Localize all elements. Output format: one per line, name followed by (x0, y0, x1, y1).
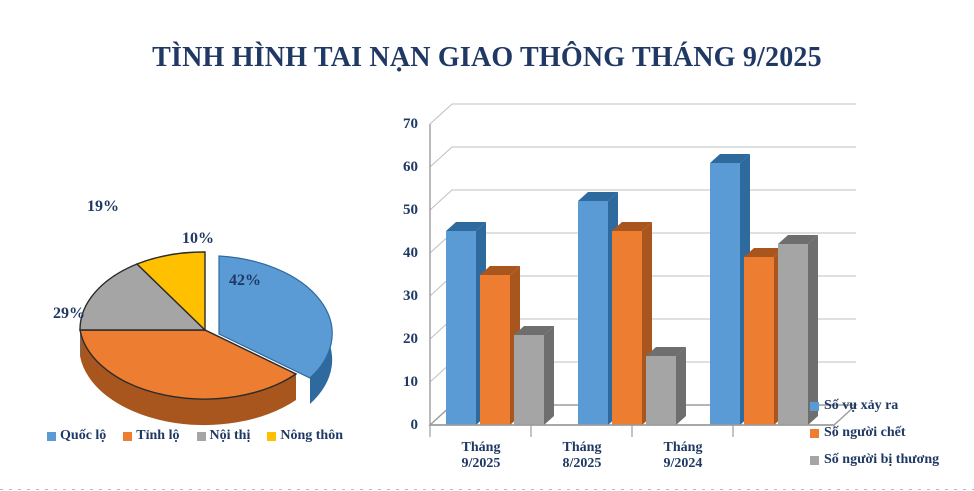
bar-so-nguoi-bi-thuong-3[interactable] (778, 244, 808, 425)
x-label-line1: Tháng (527, 440, 637, 456)
bar-group-thang-9-2025 (446, 222, 554, 425)
legend-swatch-icon (267, 432, 276, 441)
bar-legend-label: Số vụ xảy ra (824, 398, 898, 414)
bar-legend-label: Số người chết (824, 425, 906, 441)
infographic-canvas: TÌNH HÌNH TAI NẠN GIAO THÔNG THÁNG 9/202… (0, 0, 974, 491)
x-label-thang-9-2025: Tháng 9/2025 (426, 440, 536, 471)
bar-so-vu-xay-ra-2[interactable] (578, 201, 608, 425)
bar-legend-item-so-vu-xay-ra[interactable]: Số vụ xảy ra (810, 398, 939, 414)
pie-chart-svg (10, 150, 380, 430)
bar-side-3c (808, 235, 818, 425)
pie-legend-label: Nông thôn (280, 428, 343, 444)
pie-value-noi-thi: 19% (87, 198, 119, 216)
bar-group-thang-8-2025 (578, 192, 686, 425)
bottom-divider (0, 489, 974, 490)
legend-swatch-icon (197, 432, 206, 441)
x-label-line1: Tháng (426, 440, 536, 456)
x-label-line1: Tháng (628, 440, 738, 456)
x-label-thang-9-2024: Tháng 9/2024 (628, 440, 738, 471)
bar-so-nguoi-bi-thuong-1[interactable] (514, 335, 544, 425)
pie-legend-label: Tỉnh lộ (136, 428, 179, 444)
bar-so-nguoi-bi-thuong-2[interactable] (646, 356, 676, 425)
pie-legend-item-quoc-lo[interactable]: Quốc lộ (47, 428, 106, 444)
bar-chart-panel: 70 60 50 40 30 20 10 0 (378, 95, 974, 491)
bar-so-vu-xay-ra-1[interactable] (446, 231, 476, 425)
bar-legend-item-so-nguoi-chet[interactable]: Số người chết (810, 425, 939, 441)
pie-chart-panel: 42% 29% 19% 10% Quốc lộ Tỉnh lộ Nội thị … (10, 150, 380, 480)
pie-value-quoc-lo: 42% (229, 272, 261, 290)
x-label-line2: 8/2025 (527, 456, 637, 472)
bar-so-nguoi-chet-1[interactable] (480, 275, 510, 425)
page-title: TÌNH HÌNH TAI NẠN GIAO THÔNG THÁNG 9/202… (0, 42, 974, 74)
bar-legend-label: Số người bị thương (824, 452, 939, 468)
bar-legend-item-so-nguoi-bi-thuong[interactable]: Số người bị thương (810, 452, 939, 468)
pie-value-tinh-lo: 29% (53, 305, 85, 323)
legend-swatch-icon (810, 402, 819, 411)
bar-so-vu-xay-ra-3[interactable] (710, 163, 740, 425)
x-label-line2: 9/2024 (628, 456, 738, 472)
bar-group-thang-9-2024 (710, 154, 818, 425)
pie-legend-item-tinh-lo[interactable]: Tỉnh lộ (123, 428, 179, 444)
legend-swatch-icon (810, 429, 819, 438)
x-axis-ticks (430, 425, 834, 437)
x-label-thang-8-2025: Tháng 8/2025 (527, 440, 637, 471)
bar-so-nguoi-chet-2[interactable] (612, 231, 642, 425)
pie-legend-label: Nội thị (210, 428, 251, 444)
bar-side-1c (544, 326, 554, 425)
bar-legend: Số vụ xảy ra Số người chết Số người bị t… (810, 398, 939, 479)
pie-legend-label: Quốc lộ (60, 428, 106, 444)
bar-side-2c (676, 347, 686, 425)
x-label-line2: 9/2025 (426, 456, 536, 472)
legend-swatch-icon (810, 456, 819, 465)
pie-legend: Quốc lộ Tỉnh lộ Nội thị Nông thôn (10, 428, 380, 444)
pie-chart: 42% 29% 19% 10% (10, 150, 380, 430)
legend-swatch-icon (123, 432, 132, 441)
legend-swatch-icon (47, 432, 56, 441)
pie-value-nong-thon: 10% (182, 230, 214, 248)
pie-legend-item-noi-thi[interactable]: Nội thị (197, 428, 251, 444)
bar-so-nguoi-chet-3[interactable] (744, 257, 774, 425)
pie-legend-item-nong-thon[interactable]: Nông thôn (267, 428, 343, 444)
